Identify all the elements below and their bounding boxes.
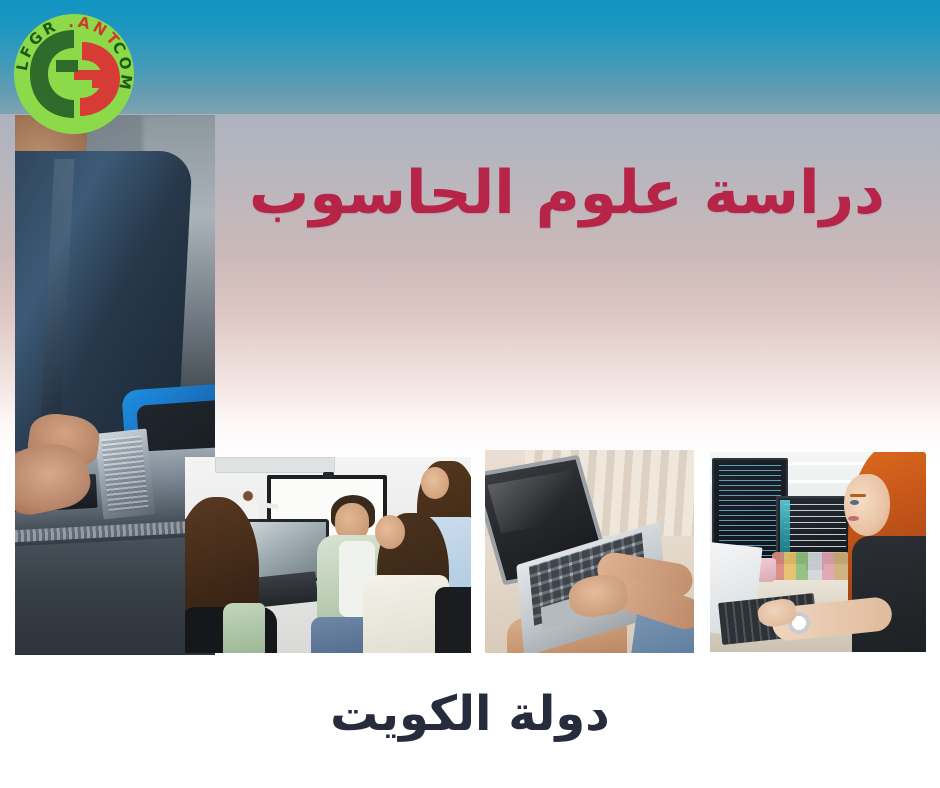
page-caption: دولة الكويت bbox=[0, 686, 940, 742]
page-title: دراسة علوم الحاسوب bbox=[222, 162, 912, 225]
photo-developer-dual-monitors bbox=[710, 452, 926, 652]
poster-root: GULFGR ANT. COM دراسة علوم الحاسوب bbox=[0, 0, 940, 788]
gulfgrant-logo[interactable]: GULFGR ANT. COM bbox=[8, 8, 140, 140]
photo-classroom-training bbox=[185, 457, 471, 653]
photo-laptop-typing bbox=[485, 450, 694, 653]
top-banner bbox=[0, 0, 940, 114]
